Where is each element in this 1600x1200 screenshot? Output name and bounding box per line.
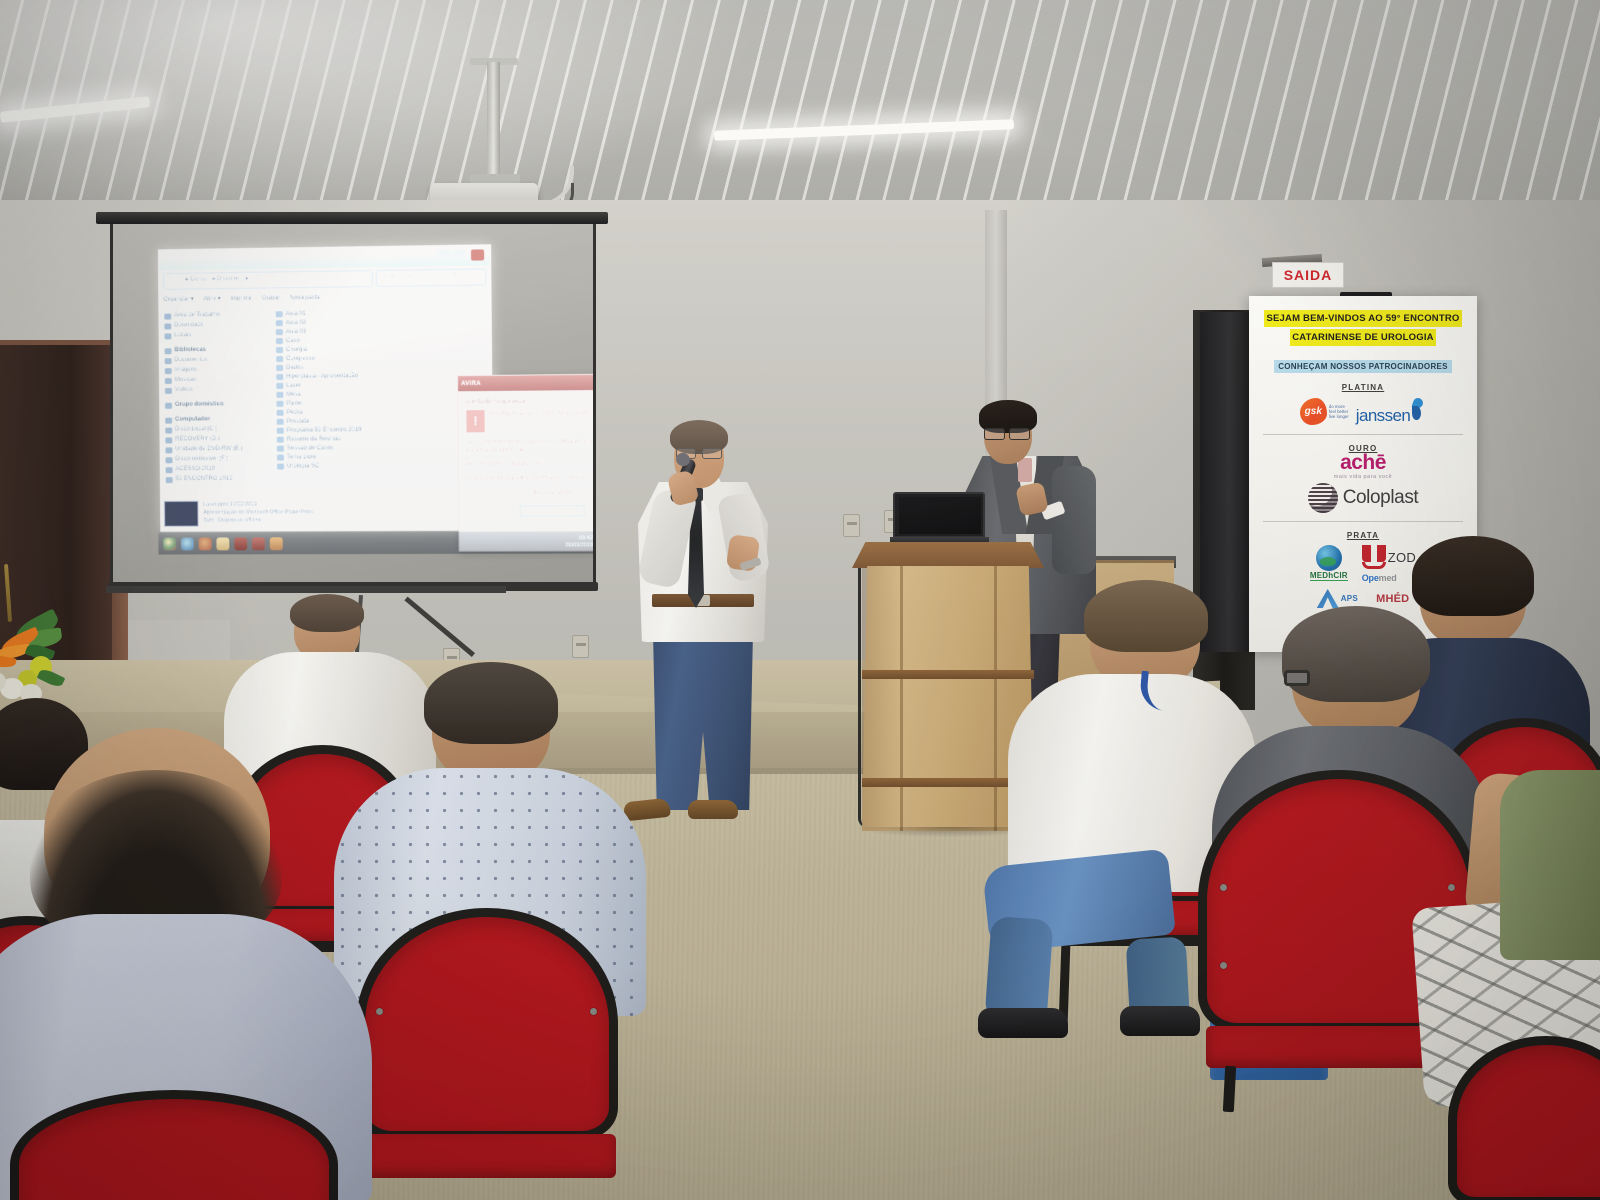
nav-group-homegroup[interactable]: Grupo doméstico bbox=[163, 399, 268, 410]
shoe bbox=[978, 1008, 1068, 1038]
avira-alert-dialog[interactable]: AVIRA × Alerta de segurança ! O software… bbox=[457, 373, 596, 551]
chair-stud bbox=[1220, 884, 1227, 891]
avira-title-bar: AVIRA × bbox=[458, 374, 596, 391]
ceiling-glow bbox=[0, 0, 760, 230]
speaker-arm-right bbox=[1052, 466, 1096, 574]
tier-prata-label: PRATA bbox=[1249, 531, 1477, 540]
adobe-reader-icon[interactable] bbox=[234, 537, 247, 550]
ache-logo: achē mais vida para você bbox=[1249, 453, 1477, 480]
coloplast-row: Coloplast bbox=[1249, 483, 1477, 513]
janssen-logo: janssen bbox=[1356, 397, 1426, 426]
exit-sign: SAIDA bbox=[1272, 262, 1344, 288]
presenter-shoe-right bbox=[688, 800, 738, 819]
eyeglasses-icon bbox=[1284, 670, 1310, 686]
explorer-body: Área de Trabalho Downloads Locais Biblio… bbox=[159, 303, 492, 527]
apsen-wordmark: APS bbox=[1341, 594, 1358, 603]
hair bbox=[290, 594, 364, 632]
screen-top-bar bbox=[96, 212, 608, 224]
explorer-status-bar: Laser.pptx 17/02/2019 Apresentação do Mi… bbox=[161, 495, 495, 530]
firefox-icon[interactable] bbox=[199, 537, 212, 550]
speaker-tie bbox=[1018, 458, 1032, 482]
nav-item[interactable]: Disco removível (F:) bbox=[164, 454, 269, 465]
tier-platina-logos: gsk do more feel better live longer jans… bbox=[1249, 397, 1477, 426]
welcome-line-1: SEJAM BEM-VINDOS AO 59° ENCONTRO bbox=[1264, 310, 1461, 327]
chair-back bbox=[356, 908, 618, 1140]
toolbar-organize[interactable]: Organizar ▾ bbox=[163, 295, 194, 302]
clock-time: 09:42 bbox=[565, 535, 593, 542]
update-now-button[interactable] bbox=[520, 505, 585, 516]
ache-tagline: mais vida para você bbox=[1249, 474, 1477, 480]
nav-item[interactable]: ACESSO 2019 bbox=[164, 464, 269, 475]
chair[interactable] bbox=[1448, 1036, 1600, 1200]
tier-divider-1 bbox=[1263, 434, 1463, 435]
torso bbox=[1500, 770, 1600, 960]
screen-lower-rail bbox=[106, 586, 506, 593]
ache-wordmark: achē bbox=[1340, 453, 1386, 473]
warning-icon: ! bbox=[466, 410, 484, 432]
explorer-nav-pane: Área de Trabalho Downloads Locais Biblio… bbox=[159, 305, 271, 526]
alert-body-3: Recomendamos atualizar agora. bbox=[467, 459, 596, 468]
search-input[interactable]: Pesquisar Disco removível (F:) bbox=[376, 268, 487, 287]
wall-outlet-4 bbox=[843, 514, 860, 537]
wall-outlet-3 bbox=[572, 635, 589, 658]
chair[interactable] bbox=[10, 1090, 340, 1200]
sponsors-heading-text: CONHEÇAM NOSSOS PATROCINADORES bbox=[1274, 360, 1452, 373]
coloplast-wordmark: Coloplast bbox=[1343, 487, 1419, 509]
taskbar: 09:42 26/03/2019 bbox=[158, 531, 596, 554]
lectern-left-bevel bbox=[862, 566, 900, 831]
nav-item[interactable]: Unidade de DVD-RW (E:) bbox=[163, 444, 268, 455]
tier-platina-label: PLATINA bbox=[1249, 383, 1477, 392]
status-file-type: Apresentação do Microsoft Office PowerPo… bbox=[203, 508, 313, 516]
maximize-button[interactable] bbox=[452, 250, 465, 261]
tier-divider-2 bbox=[1263, 521, 1463, 522]
chair-stud bbox=[590, 1008, 597, 1015]
breadcrumb[interactable]: ▸ Comp... ▸ Disco re... ▸ bbox=[163, 270, 373, 290]
explorer-window: ▸ Comp... ▸ Disco re... ▸ Pesquisar Disc… bbox=[158, 244, 494, 531]
medicir-logo: MEDhCIR bbox=[1310, 545, 1348, 581]
screen-surface: ▸ Comp... ▸ Disco re... ▸ Pesquisar Disc… bbox=[110, 224, 596, 582]
gsk-tagline: do more feel better live longer bbox=[1329, 404, 1349, 420]
chair-back bbox=[10, 1090, 338, 1200]
janssen-mark-icon bbox=[1410, 397, 1426, 421]
projected-desktop: ▸ Comp... ▸ Disco re... ▸ Pesquisar Disc… bbox=[158, 243, 596, 557]
opemed-prefix: Ope bbox=[1362, 573, 1379, 583]
avira-alert-content: Alerta de segurança ! O software antivír… bbox=[458, 390, 596, 524]
chair-back bbox=[1448, 1036, 1600, 1200]
alert-body-4: Clique no botão para mais informações so… bbox=[467, 474, 596, 483]
medicir-wordmark: MEDhCIR bbox=[1310, 571, 1348, 581]
laptop-lid bbox=[893, 492, 985, 538]
explorer-title-bar bbox=[159, 245, 490, 270]
toolbar-print[interactable]: Imprimir bbox=[230, 295, 251, 301]
gsk-tagline-3: live longer bbox=[1329, 414, 1349, 419]
coloplast-globe-icon bbox=[1308, 483, 1338, 513]
welcome-line-2: CATARINENSE DE UROLOGIA bbox=[1290, 329, 1435, 346]
lectern-edge-left bbox=[900, 566, 903, 831]
taskbar-clock[interactable]: 09:42 26/03/2019 bbox=[565, 535, 593, 549]
vlc-icon[interactable] bbox=[270, 537, 283, 550]
eyeglasses-icon bbox=[984, 428, 1030, 438]
avira-logo: AVIRA bbox=[461, 381, 481, 387]
chair-seat bbox=[364, 1134, 616, 1178]
speaker-hand bbox=[1015, 481, 1049, 516]
chair-stud bbox=[1220, 962, 1227, 969]
hair bbox=[1282, 606, 1430, 702]
explorer-icon[interactable] bbox=[216, 537, 229, 550]
hair bbox=[1084, 580, 1208, 652]
hair bbox=[424, 662, 558, 744]
exit-sign-label: SAIDA bbox=[1284, 267, 1333, 283]
banner-sponsors-heading: CONHEÇAM NOSSOS PATROCINADORES bbox=[1265, 356, 1461, 374]
mail-icon[interactable] bbox=[252, 537, 265, 550]
projection-screen: ▸ Comp... ▸ Disco re... ▸ Pesquisar Disc… bbox=[96, 212, 608, 597]
chair[interactable] bbox=[356, 908, 621, 1200]
hair bbox=[1412, 536, 1534, 616]
nav-item[interactable]: Vídeos bbox=[163, 384, 268, 395]
ceiling bbox=[0, 0, 1600, 232]
explorer-address-bar: ▸ Comp... ▸ Disco re... ▸ Pesquisar Disc… bbox=[163, 268, 486, 289]
chair-leg bbox=[1223, 1066, 1236, 1113]
gsk-mark: gsk bbox=[1300, 398, 1327, 425]
minimize-button[interactable] bbox=[437, 250, 450, 261]
laptop[interactable] bbox=[893, 492, 985, 544]
janssen-wordmark: janssen bbox=[1356, 406, 1410, 425]
alert-body-1: O software antivírus não está atualizado bbox=[491, 409, 591, 418]
banner-welcome: SEJAM BEM-VINDOS AO 59° ENCONTRO CATARIN… bbox=[1255, 308, 1471, 346]
medicir-globe-icon bbox=[1316, 545, 1342, 571]
lectern-top bbox=[852, 542, 1044, 568]
laptop-screen bbox=[899, 497, 981, 534]
zodiac-mark-icon bbox=[1362, 545, 1386, 569]
conference-room-photo: ▸ Comp... ▸ Disco re... ▸ Pesquisar Disc… bbox=[0, 0, 1600, 1200]
floral-arrangement bbox=[0, 560, 114, 720]
clock-date: 26/03/2019 bbox=[565, 542, 593, 549]
shoe-2 bbox=[1120, 1006, 1200, 1036]
close-button[interactable] bbox=[471, 249, 484, 260]
toolbar-open[interactable]: Abrir ▾ bbox=[204, 295, 221, 302]
toolbar-newfolder[interactable]: Nova pasta bbox=[290, 294, 320, 300]
file-preview-thumbnail bbox=[164, 501, 199, 527]
alert-heading: Alerta de segurança bbox=[466, 397, 596, 406]
gsk-logo: gsk do more feel better live longer bbox=[1300, 398, 1349, 425]
nav-item[interactable]: 59 ENCONTRO 2019 bbox=[164, 474, 269, 485]
toolbar-burn[interactable]: Gravar bbox=[262, 295, 280, 301]
chrome-icon[interactable] bbox=[163, 537, 176, 550]
projector-pole bbox=[487, 62, 500, 180]
flower-stem-2 bbox=[4, 564, 12, 622]
projector-arm bbox=[470, 174, 520, 183]
apsen-mark-icon bbox=[1317, 589, 1339, 608]
nav-item[interactable]: Locais bbox=[163, 329, 268, 340]
alert-body-2: Seu computador pode estar em risco. Atua… bbox=[467, 437, 596, 454]
ache-text: achē bbox=[1340, 451, 1386, 474]
audience-member-far-right-partial bbox=[1500, 770, 1600, 1010]
coloplast-logo: Coloplast bbox=[1308, 483, 1419, 513]
status-file-size: Tam.: Disponível off-line bbox=[203, 516, 313, 524]
alert-button-caption: Atualizar agora bbox=[467, 489, 596, 498]
internet-explorer-icon[interactable] bbox=[181, 537, 194, 550]
